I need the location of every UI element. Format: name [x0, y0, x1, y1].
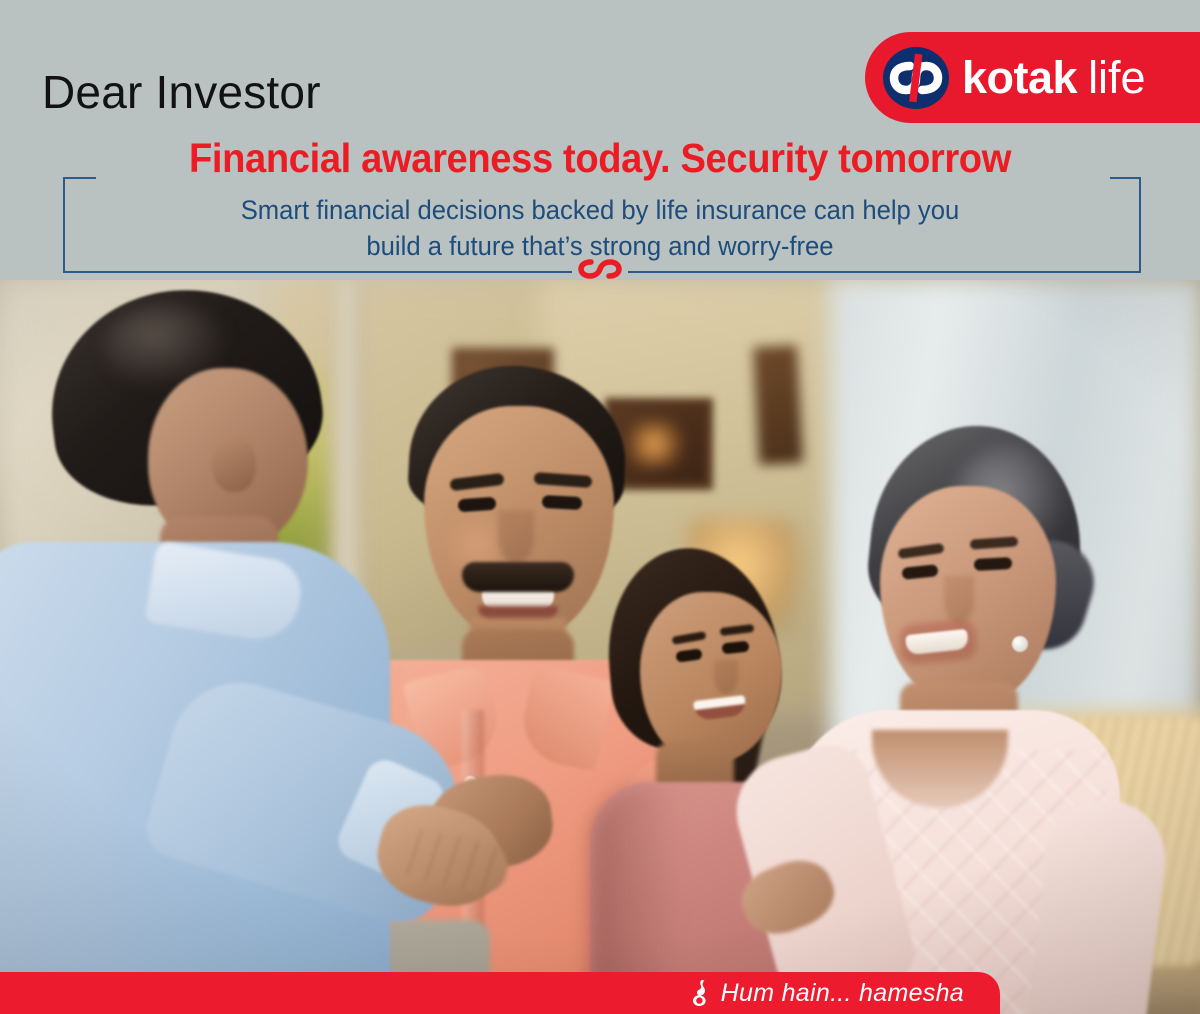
hero-photo — [0, 280, 1200, 1014]
advisor-hair-highlight — [104, 306, 232, 390]
subtitle-line-2: build a future that’s strong and worry-f… — [30, 229, 1170, 265]
tagline-bar: Hum hain... hamesha — [0, 972, 1000, 1014]
header-band: kotak life Dear Investor Financial aware… — [0, 0, 1200, 282]
woman-eye-right — [974, 557, 1013, 571]
tagline-text: Hum hain... hamesha — [721, 979, 964, 1008]
kotak-infinity-mark-icon — [882, 44, 950, 112]
greeting-text: Dear Investor — [42, 67, 321, 118]
brand-logo-pill[interactable]: kotak life — [865, 32, 1200, 123]
brand-name-kotak: kotak — [962, 55, 1077, 100]
girl-head — [640, 592, 782, 762]
kotak-flame-icon — [689, 979, 711, 1007]
tagline-group: Hum hain... hamesha — [689, 979, 964, 1008]
wall-picture-frame-2-art — [628, 420, 686, 468]
subtitle-text: Smart financial decisions backed by life… — [30, 193, 1170, 264]
headline-text: Financial awareness today. Security tomo… — [42, 135, 1158, 182]
wall-picture-frame-3 — [753, 345, 803, 465]
girl-nose — [714, 660, 738, 694]
woman-nose — [944, 576, 974, 624]
man-peach-eye-right — [542, 495, 583, 510]
man-peach-nose — [498, 510, 534, 564]
man-peach-moustache — [462, 562, 574, 592]
advertisement-creative: kotak life Dear Investor Financial aware… — [0, 0, 1200, 1014]
subtitle-line-1: Smart financial decisions backed by life… — [30, 193, 1170, 229]
man-peach-eye-left — [458, 497, 497, 513]
advisor-ear — [212, 436, 256, 492]
brand-name-life: life — [1088, 55, 1146, 100]
woman-earring — [1012, 636, 1028, 652]
